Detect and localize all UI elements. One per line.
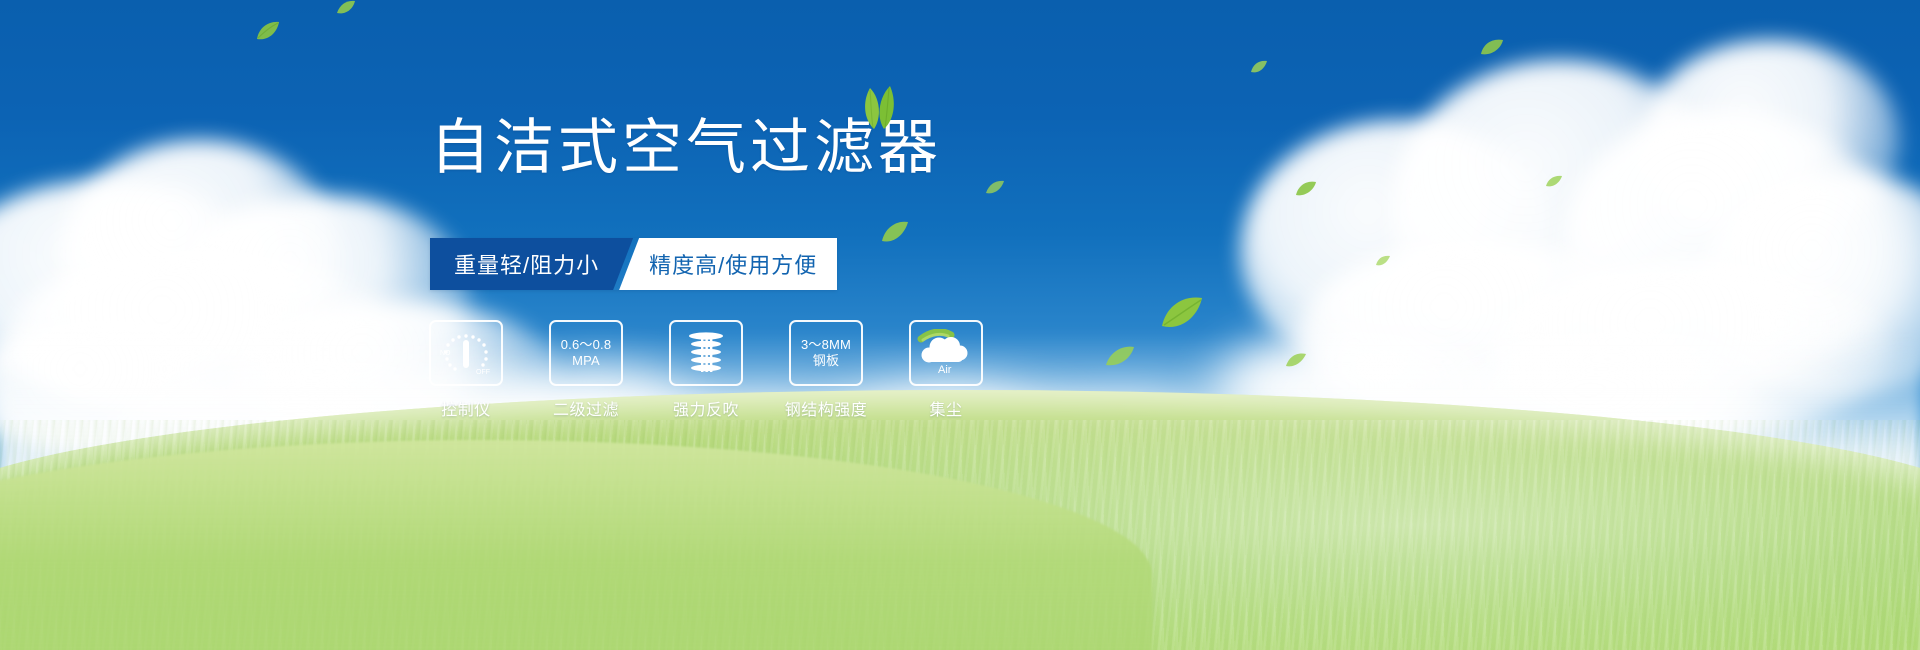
feature-box: Air (909, 320, 983, 386)
tag-precision-convenience[interactable]: 精度高/使用方便 (619, 238, 837, 290)
blowback-coil-icon (682, 328, 730, 378)
air-label: Air (938, 364, 952, 376)
feature-item-steel[interactable]: 3～8MM 钢板 钢结构强度 (784, 320, 868, 420)
feature-box: 0.6～0.8 MPA (549, 320, 623, 386)
tag-weight-resistance[interactable]: 重量轻/阻力小 (430, 238, 633, 290)
banner-content: 自洁式空气过滤器 重量轻/阻力小 精度高/使用方便 (0, 0, 1920, 650)
feature-caption: 二级过滤 (553, 396, 619, 420)
feature-caption: 强力反吹 (673, 396, 739, 420)
feature-item-blowback[interactable]: 强力反吹 (664, 320, 748, 420)
feature-item-control[interactable]: NO OFF 控制仪 (424, 320, 508, 420)
feature-caption: 钢结构强度 (785, 396, 868, 420)
air-cloud-icon: Air (917, 329, 975, 377)
title-leaf-icon (848, 84, 910, 130)
control-gauge-icon: NO OFF (436, 327, 496, 379)
feature-tag-bar: 重量轻/阻力小 精度高/使用方便 (430, 238, 837, 290)
gauge-on-label: NO (440, 350, 451, 357)
feature-caption: 集尘 (929, 396, 962, 420)
feature-caption: 控制仪 (441, 396, 491, 420)
product-banner: 自洁式空气过滤器 重量轻/阻力小 精度高/使用方便 (0, 0, 1920, 650)
gauge-off-label: OFF (476, 369, 490, 376)
feature-icon-row: NO OFF 控制仪 0.6～0.8 MPA 二级过滤 (424, 320, 988, 420)
feature-item-pressure[interactable]: 0.6～0.8 MPA 二级过滤 (544, 320, 628, 420)
feature-box: 3～8MM 钢板 (789, 320, 863, 386)
feature-box (669, 320, 743, 386)
steel-thickness-value: 3～8MM (801, 337, 851, 353)
feature-item-dust[interactable]: Air 集尘 (904, 320, 988, 420)
pressure-unit-value: MPA (572, 353, 600, 369)
feature-box: NO OFF (429, 320, 503, 386)
steel-material-value: 钢板 (813, 353, 839, 369)
pressure-range-value: 0.6～0.8 (561, 337, 612, 353)
title-block: 自洁式空气过滤器 (430, 118, 942, 178)
